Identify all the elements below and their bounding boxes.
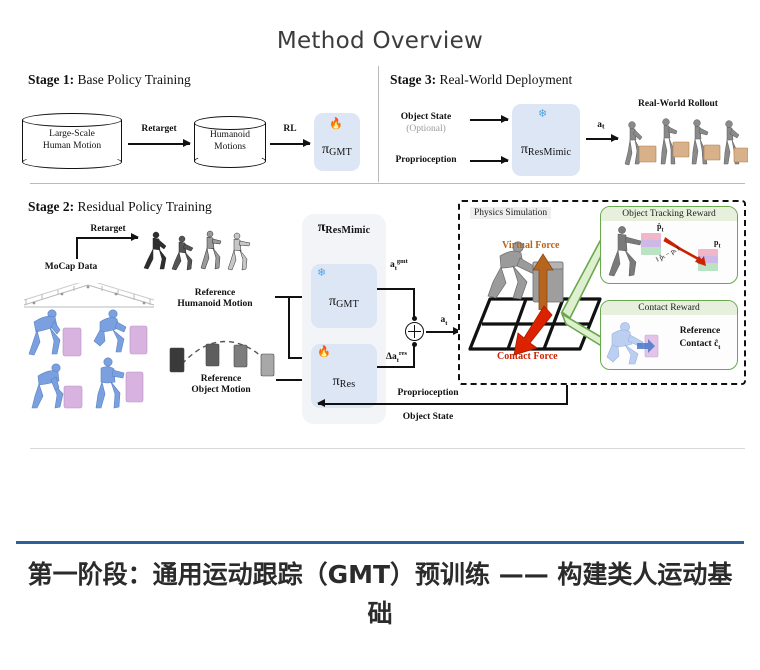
- stage3-policy-resmimic: ❄ πResMimic: [512, 104, 580, 176]
- caption-text: 第一阶段：通用运动跟踪（GMT）预训练 —— 构建类人运动基础: [20, 556, 740, 634]
- stage2-policy-resmimic-label: πResMimic: [302, 220, 386, 236]
- reference-object-motion-label: Reference Object Motion: [166, 374, 276, 395]
- action-res-wire-v: [413, 344, 415, 368]
- physics-simulation-title: Physics Simulation: [470, 207, 551, 219]
- stage1-title: Base Policy Training: [78, 72, 191, 87]
- stage2-heading: Stage 2: Residual Policy Training: [28, 199, 212, 215]
- database-humanoid-motions: Humanoid Motions: [194, 116, 266, 168]
- stage3-object-state-note: (Optional): [386, 124, 466, 135]
- reference-humanoid-motion-label: Reference Humanoid Motion: [160, 288, 270, 309]
- cylinder-bottom: [22, 155, 122, 169]
- arrow-shaft: [128, 143, 190, 145]
- contact-reward-caption: Reference Contact ĉt: [665, 325, 735, 352]
- stage2-retarget-label: Retarget: [78, 224, 138, 235]
- action-res-wire-h: [377, 366, 415, 368]
- stage2-retarget-arrow-vertical: [76, 237, 78, 259]
- stage1-policy-gmt: 🔥 πGMT: [314, 113, 360, 171]
- arrow-shaft: [318, 403, 568, 405]
- divider-horizontal-top: [30, 183, 745, 184]
- virtual-force-label: Virtual Force: [502, 240, 559, 251]
- fire-icon: 🔥: [329, 119, 343, 130]
- feedback-object-state-label: Object State: [338, 412, 518, 423]
- contact-reward-illustration: [605, 319, 669, 369]
- contact-reward-box: Contact Reward Reference Contact ĉt: [600, 300, 738, 370]
- mocap-data-label: MoCap Data: [24, 262, 118, 273]
- database-label: Large-Scale Human Motion: [22, 129, 122, 153]
- contact-force-arrow: [510, 305, 554, 357]
- object-tracking-reward-box: Object Tracking Reward: [600, 206, 738, 284]
- snowflake-icon: ❄: [538, 109, 547, 120]
- action-gmt-label: atgmt: [390, 258, 430, 272]
- cylinder-top: [22, 113, 122, 127]
- contact-force-label: Contact Force: [497, 351, 558, 362]
- feedback-proprioception-label: Proprioception: [338, 388, 518, 399]
- stage3-object-state-label: Object State: [386, 112, 466, 123]
- stage2-policy-gmt-label: πGMT: [311, 292, 377, 310]
- arrow-head: [317, 399, 325, 407]
- retargeted-humanoid-sequence: [142, 228, 260, 272]
- cylinder-top: [194, 116, 266, 130]
- accent-rule: [16, 541, 744, 544]
- arrow-head: [303, 139, 311, 147]
- stage1-rl-label: RL: [270, 124, 310, 135]
- sum-node: [405, 322, 424, 341]
- stage3-title: Real-World Deployment: [440, 72, 573, 87]
- stage3-proprioception-label: Proprioception: [382, 155, 470, 166]
- virtual-force-arrow: [532, 252, 554, 310]
- reference-humanoid-branch-vertical: [288, 296, 290, 358]
- arrow-shaft: [76, 237, 138, 239]
- action-res-label: Δatres: [386, 350, 432, 364]
- cylinder-bottom: [194, 154, 266, 168]
- stage1-heading: Stage 1: Base Policy Training: [28, 72, 191, 88]
- divider-horizontal-bottom: [30, 448, 745, 449]
- stage3-prefix: Stage 3:: [390, 72, 436, 87]
- stage3-action-label: at: [586, 120, 616, 131]
- feedback-wire-v: [566, 385, 568, 404]
- divider-vertical: [378, 66, 379, 182]
- page-title: Method Overview: [0, 28, 760, 54]
- arrow-head: [501, 156, 509, 164]
- arrow-head: [611, 134, 619, 142]
- object-tracking-pos-hat-label: p̂t: [657, 223, 663, 234]
- stage2-policy-gmt: ❄ πGMT: [311, 264, 377, 328]
- real-world-rollout-frames: [620, 116, 748, 172]
- stage3-heading: Stage 3: Real-World Deployment: [390, 72, 572, 88]
- object-tracking-pos-label: pt: [714, 239, 720, 250]
- page-root: Method Overview Stage 1: Base Policy Tra…: [0, 0, 760, 670]
- object-tracking-reward-title: Object Tracking Reward: [601, 207, 737, 221]
- stage2-title: Residual Policy Training: [78, 199, 212, 214]
- snowflake-icon: ❄: [317, 268, 326, 279]
- database-large-scale-human-motion: Large-Scale Human Motion: [22, 113, 122, 169]
- mocap-human-object-figures: [20, 306, 160, 414]
- stage3-rollout-label: Real-World Rollout: [608, 99, 748, 110]
- stage2-prefix: Stage 2:: [28, 199, 74, 214]
- contact-reward-title: Contact Reward: [601, 301, 737, 315]
- junction-dot-res: [412, 342, 417, 347]
- fire-icon: 🔥: [317, 347, 331, 358]
- action-output-label: at: [432, 315, 456, 327]
- arrow-head: [501, 115, 509, 123]
- stage1-prefix: Stage 1:: [28, 72, 74, 87]
- stage1-policy-label: πGMT: [314, 140, 360, 158]
- database-label: Humanoid Motions: [194, 130, 266, 154]
- stage3-policy-label: πResMimic: [512, 140, 580, 158]
- action-gmt-wire-h: [377, 288, 415, 290]
- stage1-retarget-label: Retarget: [128, 124, 190, 135]
- junction-dot-gmt: [412, 316, 417, 321]
- arrow-head: [131, 233, 139, 241]
- arrow-head: [183, 139, 191, 147]
